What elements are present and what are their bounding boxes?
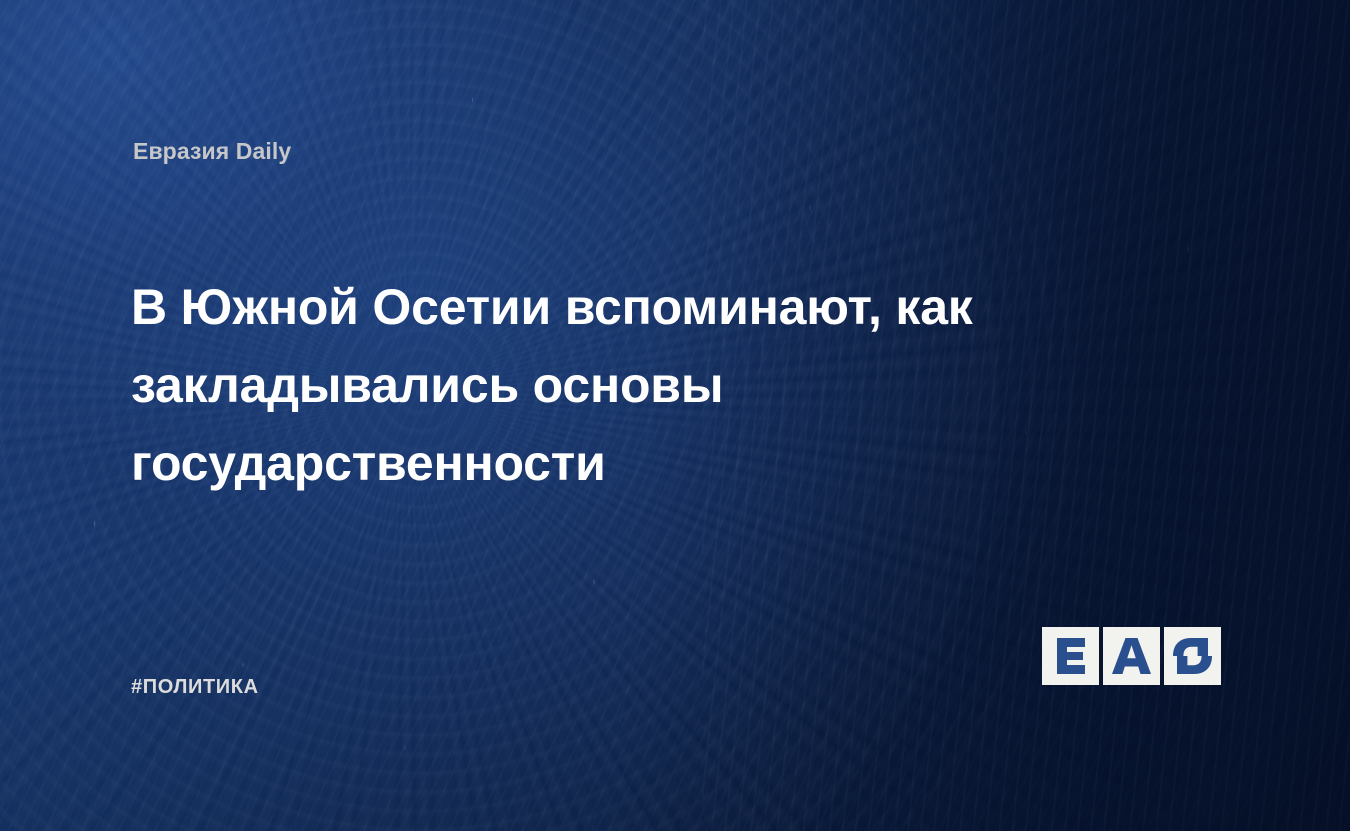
logo-letter-d-split: [1164, 627, 1221, 685]
category-hashtag[interactable]: #ПОЛИТИКА: [131, 676, 259, 699]
logo-letter-a: [1103, 627, 1160, 685]
card-content: Евразия Daily В Южной Осетии вспоминают,…: [0, 0, 1350, 831]
page-title: В Южной Осетии вспоминают, как закладыва…: [131, 268, 1091, 502]
logo-letter-e: [1042, 627, 1099, 685]
brand-name: Евразия Daily: [133, 138, 291, 165]
eadaily-logo[interactable]: EADaily: [1042, 627, 1221, 685]
share-card: Евразия Daily В Южной Осетии вспоминают,…: [0, 0, 1350, 831]
